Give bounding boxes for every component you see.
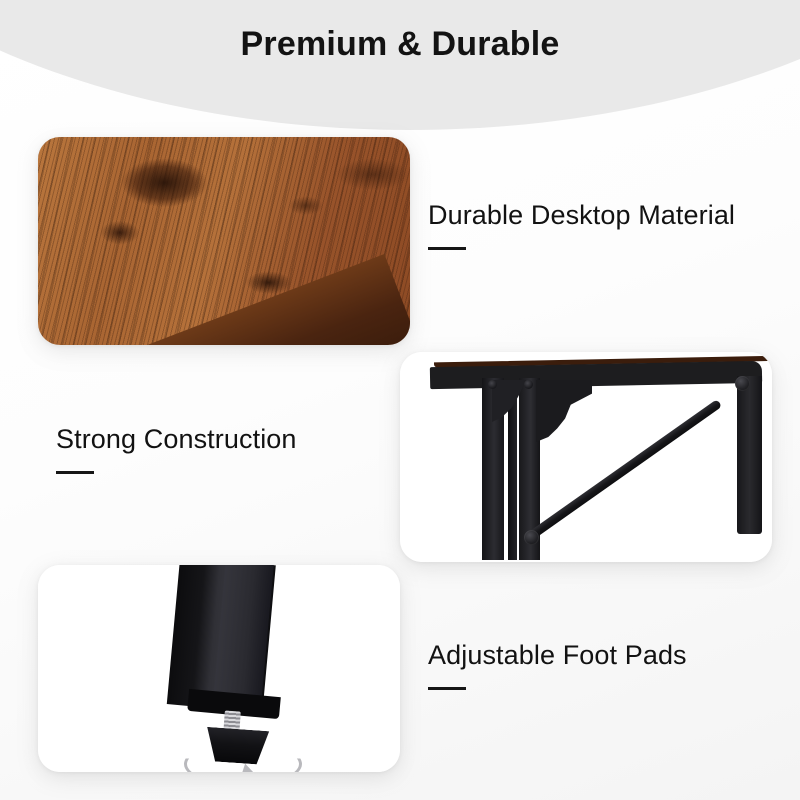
- leg-bolt-left-icon: [488, 380, 497, 389]
- brace-bolt-bottom-icon: [524, 530, 539, 545]
- feature-label-foot-pads: Adjustable Foot Pads: [428, 640, 687, 671]
- frame-right-post: [737, 376, 762, 534]
- feature-rule-construction: [56, 471, 94, 474]
- feature-label-construction: Strong Construction: [56, 424, 297, 455]
- feature-image-card-foot-pads: [38, 565, 400, 772]
- feature-label-desktop-material: Durable Desktop Material: [428, 200, 735, 231]
- feature-rule-desktop-material: [428, 247, 466, 250]
- feature-image-card-construction: [400, 352, 772, 562]
- brace-bolt-top-icon: [735, 376, 750, 391]
- table-frame-photo: [400, 352, 772, 562]
- frame-corner-gusset-right: [536, 380, 592, 442]
- leg-bolt-right-icon: [524, 380, 533, 389]
- foot-pad-photo: [38, 565, 400, 772]
- infographic-canvas: Premium & Durable: [0, 0, 800, 800]
- page-title: Premium & Durable: [0, 25, 800, 64]
- feature-rule-foot-pads: [428, 687, 466, 690]
- feature-image-card-desktop-material: [38, 137, 410, 345]
